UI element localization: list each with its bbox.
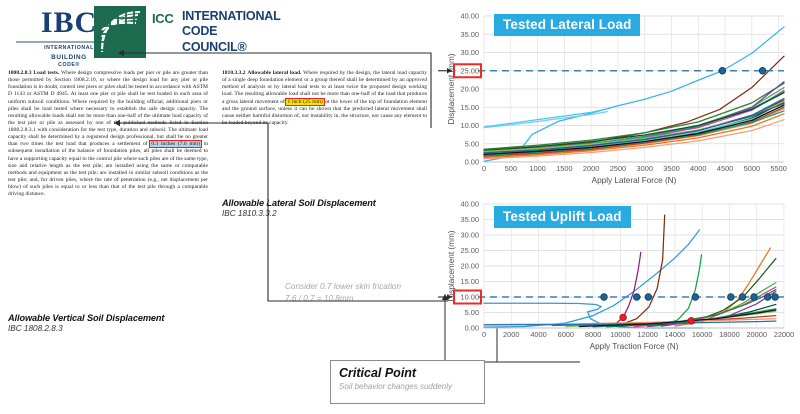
critical-point-title: Critical Point bbox=[339, 366, 476, 380]
svg-text:5.00: 5.00 bbox=[465, 139, 479, 148]
icc-logo: ICC INTERNATIONAL CODE COUNCIL® bbox=[94, 6, 294, 60]
svg-text:0.00: 0.00 bbox=[465, 324, 479, 333]
svg-text:15.00: 15.00 bbox=[461, 103, 480, 112]
svg-text:14000: 14000 bbox=[665, 330, 686, 339]
svg-text:3000: 3000 bbox=[636, 164, 652, 173]
svg-text:Apply Traction Force (N): Apply Traction Force (N) bbox=[590, 342, 679, 351]
critical-point-callout: Critical Point Soil behavior changes sud… bbox=[330, 360, 485, 404]
svg-text:4000: 4000 bbox=[690, 164, 706, 173]
svg-text:18000: 18000 bbox=[719, 330, 740, 339]
svg-text:2000: 2000 bbox=[503, 330, 519, 339]
svg-text:500: 500 bbox=[505, 164, 517, 173]
svg-text:22000: 22000 bbox=[774, 330, 795, 339]
icc-globe-icon bbox=[94, 6, 146, 58]
svg-text:4500: 4500 bbox=[717, 164, 733, 173]
caption-lateral-title: Allowable Lateral Soil Displacement bbox=[222, 198, 376, 208]
caption-vertical-title: Allowable Vertical Soil Displacement bbox=[8, 313, 164, 323]
chart-lateral-title-badge: Tested Lateral Load bbox=[494, 14, 640, 36]
svg-text:35.00: 35.00 bbox=[461, 30, 480, 39]
caption-vertical-ref: IBC 1808.2.8.3 bbox=[8, 324, 164, 333]
left-body-text-before: Where design compressive loads per pier … bbox=[8, 70, 208, 147]
svg-text:1000: 1000 bbox=[529, 164, 545, 173]
left-section-heading: Load tests. bbox=[33, 70, 59, 76]
caption-lateral-ref: IBC 1810.3.3.2 bbox=[222, 209, 376, 218]
svg-text:0: 0 bbox=[482, 330, 486, 339]
code-excerpt-vertical: 1808.2.8.3 Load tests. Where design comp… bbox=[8, 70, 208, 198]
mid-section-heading: Allowable lateral load. bbox=[247, 70, 301, 76]
svg-text:15.00: 15.00 bbox=[461, 277, 480, 286]
icc-logo-line3: COUNCIL® bbox=[182, 40, 281, 55]
highlight-lateral-displacement: 1 inch (25 mm) bbox=[286, 99, 323, 105]
chart-tested-uplift-load: 0.005.0010.0015.0020.0025.0030.0035.0040… bbox=[432, 196, 798, 364]
critical-point-subtitle: Soil behavior changes suddenly bbox=[339, 382, 476, 391]
note-skin-friction-line2: 7.6 / 0.7 = 10.8mm bbox=[285, 293, 401, 305]
svg-text:Apply Lateral Force (N): Apply Lateral Force (N) bbox=[592, 176, 677, 185]
mid-section-number: 1810.3.3.2 bbox=[222, 70, 246, 76]
icc-logo-line1: INTERNATIONAL bbox=[182, 9, 281, 24]
caption-lateral-displacement: Allowable Lateral Soil Displacement IBC … bbox=[222, 198, 376, 218]
svg-text:2000: 2000 bbox=[583, 164, 599, 173]
caption-vertical-displacement: Allowable Vertical Soil Displacement IBC… bbox=[8, 313, 164, 333]
svg-text:2500: 2500 bbox=[610, 164, 626, 173]
left-section-number: 1808.2.8.3 bbox=[8, 70, 32, 76]
svg-text:4000: 4000 bbox=[530, 330, 546, 339]
svg-text:20.00: 20.00 bbox=[461, 262, 480, 271]
svg-text:5.00: 5.00 bbox=[465, 308, 479, 317]
svg-text:5500: 5500 bbox=[770, 164, 786, 173]
svg-text:12000: 12000 bbox=[637, 330, 658, 339]
svg-text:20.00: 20.00 bbox=[461, 85, 480, 94]
icc-logo-line2: CODE bbox=[182, 24, 281, 39]
svg-text:0.00: 0.00 bbox=[465, 158, 479, 167]
svg-text:10.00: 10.00 bbox=[461, 293, 480, 302]
note-skin-friction: Consider 0.7 lower skin frication 7.6 / … bbox=[285, 281, 401, 305]
svg-text:0: 0 bbox=[482, 164, 486, 173]
chart-tested-lateral-load: 0.005.0010.0015.0020.0025.0030.0035.0040… bbox=[432, 2, 798, 194]
note-skin-friction-line1: Consider 0.7 lower skin frication bbox=[285, 281, 401, 293]
svg-text:10000: 10000 bbox=[610, 330, 631, 339]
left-body-text-after: in subsequent installation of the balanc… bbox=[8, 141, 208, 197]
svg-text:5000: 5000 bbox=[744, 164, 760, 173]
svg-text:35.00: 35.00 bbox=[461, 215, 480, 224]
svg-text:16000: 16000 bbox=[692, 330, 713, 339]
svg-text:6000: 6000 bbox=[558, 330, 574, 339]
svg-text:30.00: 30.00 bbox=[461, 48, 480, 57]
svg-text:1500: 1500 bbox=[556, 164, 572, 173]
svg-text:40.00: 40.00 bbox=[461, 12, 480, 21]
icc-logo-abbr: ICC bbox=[152, 11, 174, 26]
svg-text:25.00: 25.00 bbox=[461, 246, 480, 255]
chart-uplift-title-badge: Tested Uplift Load bbox=[494, 206, 631, 228]
svg-text:8000: 8000 bbox=[585, 330, 601, 339]
logo-bar: IBC INTERNATIONAL BUILDING CODE® bbox=[0, 0, 300, 66]
svg-text:3500: 3500 bbox=[663, 164, 679, 173]
svg-text:20000: 20000 bbox=[746, 330, 767, 339]
svg-text:30.00: 30.00 bbox=[461, 231, 480, 240]
svg-text:25.00: 25.00 bbox=[461, 66, 480, 75]
mid-body-italic-word: approved bbox=[406, 77, 427, 83]
highlight-vertical-displacement: 0.3 inches (7.6 mm) bbox=[150, 141, 201, 147]
code-excerpt-lateral: 1810.3.3.2 Allowable lateral load. Where… bbox=[222, 70, 427, 127]
svg-text:10.00: 10.00 bbox=[461, 121, 480, 130]
svg-text:40.00: 40.00 bbox=[461, 200, 480, 209]
